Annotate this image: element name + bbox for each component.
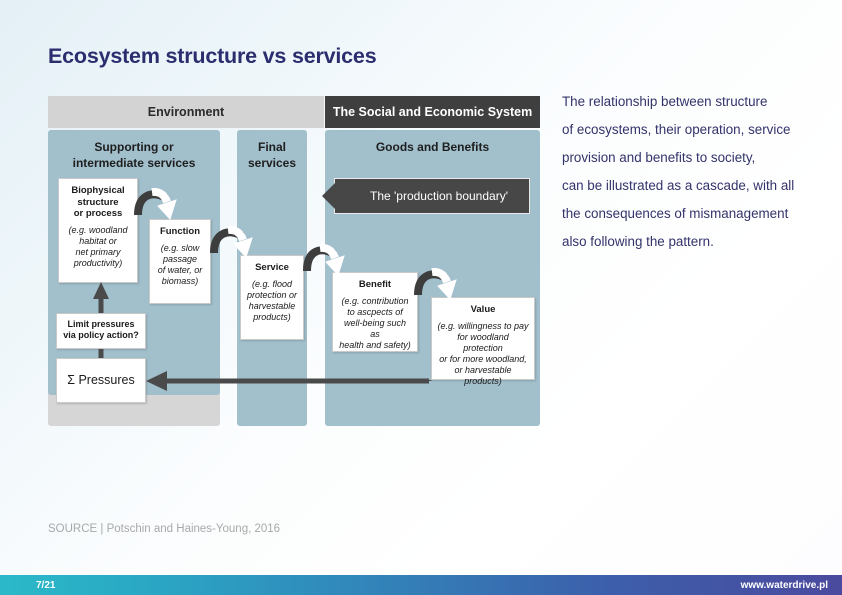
box-limit-pressures: Limit pressures via policy action? [56,313,146,349]
box-biophysical-title: Biophysical structure or process [64,185,132,220]
footer-website[interactable]: www.waterdrive.pl [741,580,828,591]
footer-bar: 7/21 www.waterdrive.pl [0,575,842,595]
box-function-example: (e.g. slow passage of water, or biomass) [155,243,205,288]
column-goods-label: Goods and Benefits [325,140,540,156]
box-biophysical-structure: Biophysical structure or process (e.g. w… [58,178,138,283]
box-benefit-title: Benefit [338,279,412,291]
box-benefit-example: (e.g. contribution to ascpects of well-b… [338,296,412,352]
description-line: provision and benefits to society, [562,144,824,172]
box-benefit: Benefit (e.g. contribution to ascpects o… [332,272,418,352]
description-line: also following the pattern. [562,228,824,256]
description-paragraph: The relationship between structure of ec… [562,88,824,256]
box-value-title: Value [437,304,529,316]
box-limit-pressures-title: Limit pressures via policy action? [60,319,142,341]
cascade-diagram: Environment The Social and Economic Syst… [48,96,540,426]
box-service-example: (e.g. flood protection or harvestable pr… [246,279,298,324]
box-service: Service (e.g. flood protection or harves… [240,255,304,340]
box-value-example: (e.g. willingness to pay for woodland pr… [437,321,529,388]
description-line: the consequences of mismanagement [562,200,824,228]
column-supporting-label: Supporting or intermediate services [48,140,220,171]
bar-environment: Environment [48,96,324,128]
box-function-title: Function [155,226,205,238]
box-biophysical-example: (e.g. woodland habitat or net primary pr… [64,225,132,270]
source-citation: SOURCE | Potschin and Haines-Young, 2016 [48,523,280,535]
bar-social-economic-system: The Social and Economic System [325,96,540,128]
column-final-label: Final services [237,140,307,171]
description-line: The relationship between structure [562,88,824,116]
box-sum-pressures-title: Σ Pressures [67,373,134,388]
description-line: of ecosystems, their operation, service [562,116,824,144]
box-service-title: Service [246,262,298,274]
page-number: 7/21 [36,580,55,591]
box-function: Function (e.g. slow passage of water, or… [149,219,211,304]
production-boundary-banner: The 'production boundary' [334,178,530,214]
box-sum-pressures: Σ Pressures [56,358,146,403]
page-title: Ecosystem structure vs services [48,44,376,69]
description-line: can be illustrated as a cascade, with al… [562,172,824,200]
box-value: Value (e.g. willingness to pay for woodl… [431,297,535,380]
